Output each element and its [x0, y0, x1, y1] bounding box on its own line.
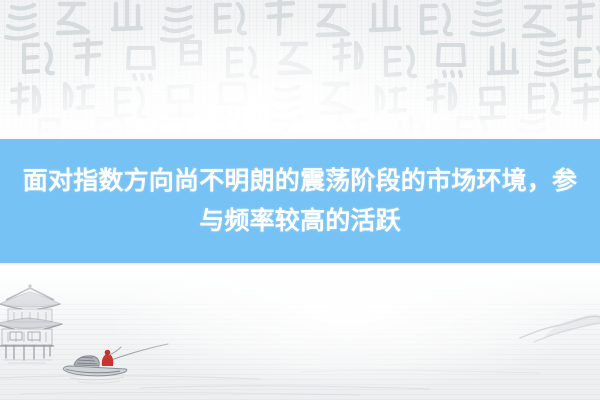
fishing-boat-icon — [63, 347, 126, 376]
title-band: 面对指数方向尚不明朗的震荡阶段的市场环境，参 与频率较高的活跃 — [0, 139, 600, 263]
boat-reflection — [70, 377, 124, 383]
calligraphy-strokes-icon — [0, 0, 600, 140]
ink-wash-scene — [0, 266, 600, 400]
waterside-pavilion-icon — [0, 284, 62, 363]
headline-line-1: 面对指数方向尚不明朗的震荡阶段的市场环境，参 — [23, 161, 577, 201]
promotional-banner: 面对指数方向尚不明朗的震荡阶段的市场环境，参 与频率较高的活跃 — [0, 0, 600, 400]
distant-shoreline-icon — [520, 315, 600, 342]
fishing-rod-line-icon — [105, 344, 168, 362]
headline-line-2: 与频率较高的活跃 — [199, 201, 401, 241]
landscape-illustration-icon — [0, 266, 600, 400]
calligraphy-background — [0, 0, 600, 140]
